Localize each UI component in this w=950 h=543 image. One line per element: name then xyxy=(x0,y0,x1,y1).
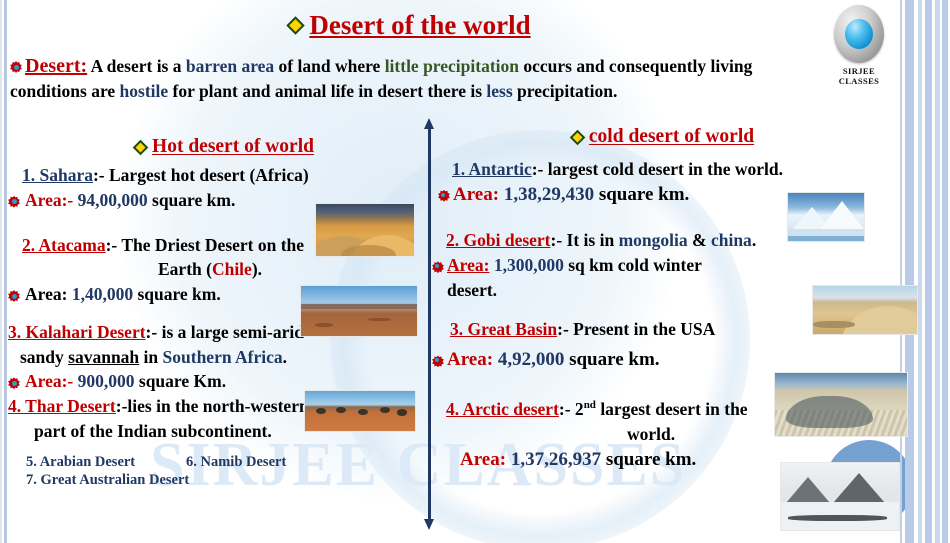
cold-item-2-amp: & xyxy=(688,230,711,250)
cold-item-1-area-label: Area: xyxy=(453,184,499,205)
intro-part1: A desert is a xyxy=(87,56,186,76)
hot-item-1-area-label: Area:- xyxy=(25,190,73,210)
hot-desert-heading: Hot desert of world xyxy=(8,136,423,158)
cold-item-3-area-label: Area: xyxy=(447,349,493,370)
hot-item-3-sandy: sandy xyxy=(20,347,68,367)
hot-item-3-savannah: savannah xyxy=(68,347,139,367)
cold-item-1-area-value: 1,38,29,430 xyxy=(504,184,594,205)
hot-item-2-name: 2. Atacama xyxy=(22,235,106,255)
sahara-dunes-photo xyxy=(315,203,415,257)
intro-part5: precipitation. xyxy=(513,81,618,101)
flower-bullet-icon xyxy=(432,355,442,365)
hot-item-2-close: ). xyxy=(252,259,262,279)
hot-item-2-area: Area: 1,40,000 square km. xyxy=(25,283,221,306)
kalahari-desert-photo xyxy=(304,390,416,432)
antarctica-photo xyxy=(787,192,865,242)
cold-item-1-desc: :- largest cold desert in the world. xyxy=(532,159,783,179)
arctic-desert-photo xyxy=(780,462,900,531)
hot-item-1-area-unit: square km. xyxy=(152,190,235,210)
left-edge-line xyxy=(4,0,7,543)
hot-item-1-area: Area:- 94,00,000 square km. xyxy=(25,189,235,212)
cold-item-2-name: 2. Gobi desert xyxy=(446,230,551,250)
mountain-shape xyxy=(833,473,885,503)
cold-item-2-mongolia: mongolia xyxy=(619,230,688,250)
cold-item-3-desc: :- Present in the USA xyxy=(557,319,715,339)
hot-item-2-area-label: Area: xyxy=(25,284,67,304)
intro-part2: of land where xyxy=(274,56,385,76)
bush-shape xyxy=(336,407,346,413)
right-stripe-1 xyxy=(905,0,914,543)
cold-item-3-area-value: 4,92,000 xyxy=(498,349,565,370)
rock-band-shape xyxy=(788,515,887,520)
slide-root: SIRJEE CLASSES SIRJEE CLASSES Desert of … xyxy=(0,0,950,543)
hot-extra-6: 6. Namib Desert xyxy=(186,454,286,470)
hot-item-1-name: 1. Sahara xyxy=(22,165,93,185)
rock-shape xyxy=(315,323,334,327)
cold-item-3-name: 3. Great Basin xyxy=(450,319,557,339)
cold-item-4-sup: nd xyxy=(584,399,596,411)
hot-item-2-area-unit: square km. xyxy=(137,284,220,304)
right-stripe-5 xyxy=(942,0,948,543)
gobi-desert-photo xyxy=(812,285,918,335)
logo-ring-icon xyxy=(834,5,884,63)
hot-item-3-period: . xyxy=(283,347,287,367)
right-stripe-band xyxy=(904,0,950,543)
diamond-bullet-icon xyxy=(287,16,305,34)
great-basin-photo xyxy=(774,372,908,437)
flower-bullet-icon xyxy=(8,377,20,389)
intro-part4: for plant and animal life in desert ther… xyxy=(168,81,486,101)
cold-item-2-area-unit: sq km cold winter xyxy=(568,255,702,275)
hot-extra-5: 5. Arabian Desert xyxy=(26,453,186,471)
hot-item-2-chile: Chile xyxy=(212,259,252,279)
hot-item-3-in: in xyxy=(139,347,162,367)
hot-item-3-name: 3. Kalahari Desert xyxy=(8,322,146,342)
hot-item-3-area-unit: square Km. xyxy=(139,371,226,391)
cold-item-2-period: . xyxy=(752,230,756,250)
intro-term: Desert: xyxy=(25,55,87,77)
dune-swale-shape xyxy=(786,396,873,429)
right-inner-line xyxy=(900,0,902,543)
hot-item-3-area-value: 900,000 xyxy=(78,371,135,391)
cold-item-2-area-block: Area: 1,300,000 sq km cold winter desert… xyxy=(447,254,702,304)
cold-desert-heading-text: cold desert of world xyxy=(589,126,754,147)
flower-bullet-icon xyxy=(8,290,20,302)
hot-item-3-desc: :- is a large semi-arid xyxy=(146,322,304,342)
intro-highlight-hostile: hostile xyxy=(120,81,169,101)
cold-item-1-name: 1. Antartic xyxy=(452,159,532,179)
cold-item-1-area-unit: square km. xyxy=(599,184,689,205)
cold-item-1-title: 1. Antartic:- largest cold desert in the… xyxy=(432,158,894,181)
flower-bullet-icon xyxy=(10,61,22,73)
cold-item-4-name: 4. Arctic desert xyxy=(446,399,559,419)
hot-item-4-desc: :-lies in the north-western xyxy=(116,396,309,416)
hot-item-1-title: 1. Sahara:- Largest hot desert (Africa) xyxy=(8,164,423,187)
flower-bullet-icon xyxy=(432,261,442,271)
bush-shape xyxy=(316,408,326,414)
bush-shape xyxy=(380,407,390,413)
cold-item-4-area-value: 1,37,26,937 xyxy=(511,449,601,470)
snow-peak-shape xyxy=(820,201,864,229)
hot-item-3-area: Area:- 900,000 square Km. xyxy=(25,370,226,393)
cold-item-4-desc: :- 2 xyxy=(559,399,584,419)
cold-item-2-area-value: 1,300,000 xyxy=(494,255,564,275)
hot-item-3-area-label: Area:- xyxy=(25,371,73,391)
right-stripe-4 xyxy=(935,0,940,543)
intro-paragraph: Desert: A desert is a barren area of lan… xyxy=(10,53,810,103)
dune-shape xyxy=(840,306,918,335)
hot-item-1-desc: :- Largest hot desert (Africa) xyxy=(93,165,309,185)
hot-item-1-area-value: 94,00,000 xyxy=(78,190,148,210)
cold-item-3-area-unit: square km. xyxy=(569,349,659,370)
diamond-bullet-icon xyxy=(570,130,586,146)
cold-item-4-area-label: Area: xyxy=(460,449,506,470)
shadow-shape xyxy=(813,321,855,329)
atacama-desert-photo xyxy=(300,285,418,337)
arrow-head-down-icon xyxy=(424,519,434,530)
rock-shape xyxy=(368,318,391,322)
cold-item-4-area-unit: square km. xyxy=(606,449,696,470)
cold-item-2-area: Area: 1,300,000 sq km cold winter xyxy=(447,254,702,277)
hot-item-2-area-value: 1,40,000 xyxy=(72,284,133,304)
intro-highlight-little-precipitation: little precipitation xyxy=(385,56,519,76)
cold-item-2-china: china xyxy=(711,230,752,250)
cold-item-3-area: Area: 4,92,000 square km. xyxy=(447,348,660,373)
bush-shape xyxy=(397,409,407,415)
water-shape xyxy=(788,236,864,241)
hot-item-2-earth: Earth ( xyxy=(158,259,212,279)
cold-desert-heading: cold desert of world xyxy=(432,126,894,148)
flower-bullet-icon xyxy=(8,196,20,208)
hot-item-2-desc-line2: Earth (Chile). xyxy=(8,258,423,281)
hot-item-3-desc-line2: sandy savannah in Southern Africa. xyxy=(8,346,423,369)
hot-desert-heading-text: Hot desert of world xyxy=(152,136,314,157)
diamond-bullet-icon xyxy=(133,140,149,156)
hot-item-2-desc: :- The Driest Desert on the xyxy=(106,235,304,255)
intro-highlight-less: less xyxy=(486,81,512,101)
sirjee-classes-logo: SIRJEE CLASSES xyxy=(822,5,896,86)
arrow-shaft xyxy=(428,126,431,522)
logo-sphere-icon xyxy=(845,19,873,49)
flower-bullet-icon xyxy=(438,190,448,200)
cold-item-2-desc: :- It is in xyxy=(551,230,619,250)
hot-item-4-name: 4. Thar Desert xyxy=(8,396,116,416)
hot-extra-list: 5. Arabian Desert6. Namib Desert 7. Grea… xyxy=(8,453,423,489)
ridge-shape xyxy=(301,304,417,309)
left-edge-line-outer xyxy=(0,0,2,543)
mountain-shape xyxy=(786,477,830,503)
page-title: Desert of the world xyxy=(0,10,820,41)
bush-shape xyxy=(358,409,368,415)
right-stripe-2 xyxy=(918,0,922,543)
page-title-text: Desert of the world xyxy=(309,10,530,41)
cold-item-4-desc-rest: largest desert in the xyxy=(596,399,748,419)
hot-extra-7: 7. Great Australian Desert xyxy=(26,472,189,488)
logo-label: SIRJEE CLASSES xyxy=(822,66,896,86)
cold-item-1-area: Area: 1,38,29,430 square km. xyxy=(453,183,689,208)
hot-item-3-southern-africa: Southern Africa xyxy=(163,347,283,367)
cold-item-2-area-label: Area: xyxy=(447,255,489,275)
intro-highlight-barren-area: barren area xyxy=(186,56,274,76)
cold-item-2-area-line2: desert. xyxy=(447,279,702,302)
right-stripe-3 xyxy=(925,0,932,543)
